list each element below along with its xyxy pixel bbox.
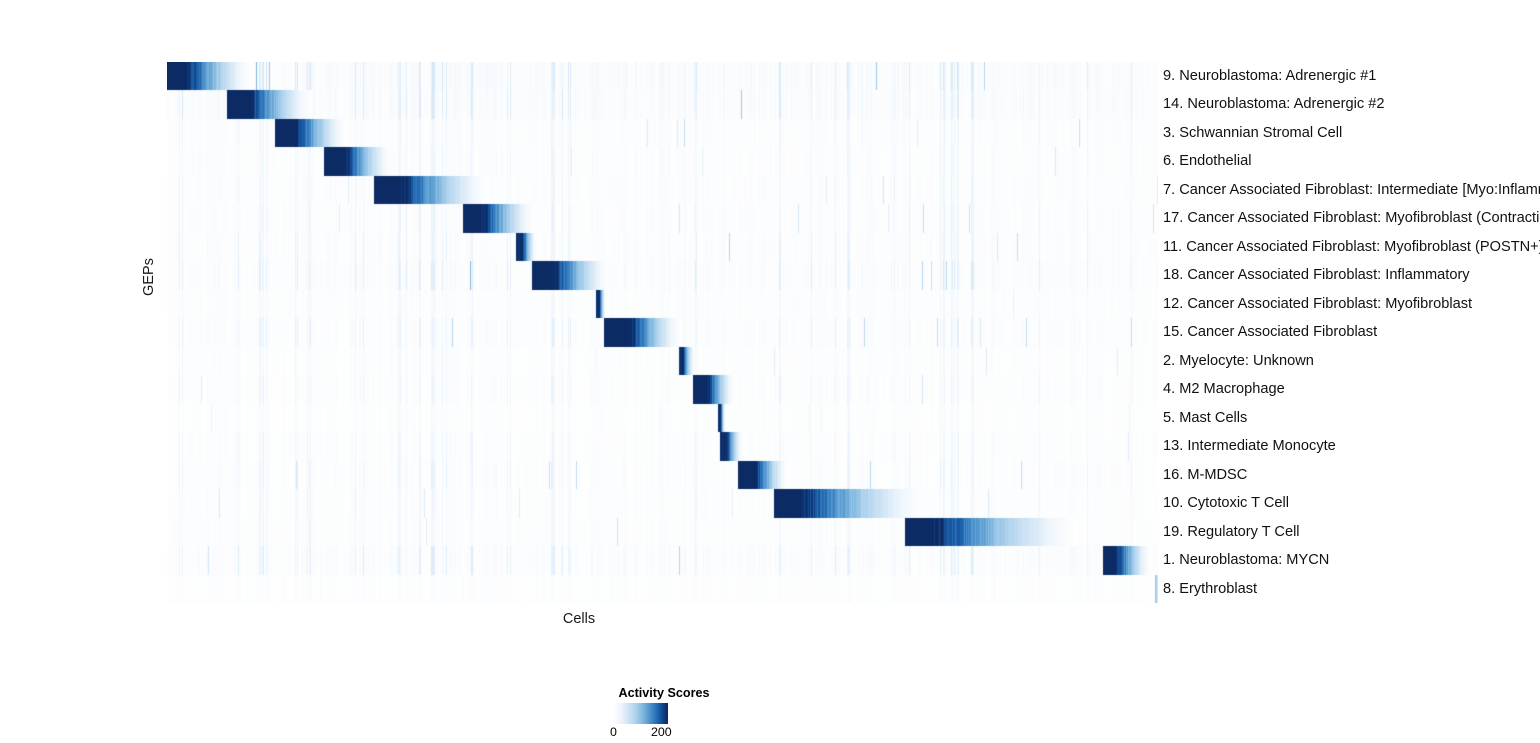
colorbar-tick-label-200: 200 (651, 725, 672, 739)
heatmap-canvas (167, 62, 1158, 603)
heatmap-row-label: 17. Cancer Associated Fibroblast: Myofib… (1163, 204, 1540, 232)
y-axis-title-holder: GEPs (141, 277, 161, 297)
heatmap-row-label: 18. Cancer Associated Fibroblast: Inflam… (1163, 261, 1470, 289)
colorbar-tick-bottom (607, 716, 609, 724)
heatmap-row-label: 4. M2 Macrophage (1163, 375, 1285, 403)
heatmap-row-label: 5. Mast Cells (1163, 404, 1247, 432)
heatmap-row-label: 13. Intermediate Monocyte (1163, 432, 1336, 460)
heatmap-row-label-list: 9. Neuroblastoma: Adrenergic #114. Neuro… (1163, 62, 1540, 603)
heatmap-row-label: 14. Neuroblastoma: Adrenergic #2 (1163, 90, 1384, 118)
colorbar-title: Activity Scores (560, 686, 768, 700)
heatmap-row-label: 7. Cancer Associated Fibroblast: Interme… (1163, 176, 1540, 204)
heatmap-row-label: 3. Schwannian Stromal Cell (1163, 119, 1342, 147)
heatmap-plot-area (167, 62, 1158, 603)
colorbar-gradient-holder (613, 703, 668, 724)
heatmap-row-label: 16. M-MDSC (1163, 461, 1247, 489)
heatmap-row-label: 1. Neuroblastoma: MYCN (1163, 546, 1329, 574)
heatmap-row-label: 10. Cytotoxic T Cell (1163, 489, 1289, 517)
figure-root: GEPs Cells 9. Neuroblastoma: Adrenergic … (0, 0, 1540, 743)
colorbar-legend: Activity Scores 0 200 (560, 686, 880, 741)
x-axis-title-row: Cells (0, 611, 1158, 627)
y-axis-title: GEPs (141, 258, 157, 296)
colorbar-gradient (613, 703, 668, 724)
heatmap-row-label: 9. Neuroblastoma: Adrenergic #1 (1163, 62, 1376, 90)
x-axis-title: Cells (563, 611, 595, 627)
heatmap-row-label: 6. Endothelial (1163, 147, 1251, 175)
heatmap-row-label: 19. Regulatory T Cell (1163, 518, 1300, 546)
colorbar-tick-top (607, 703, 609, 711)
colorbar-tick-label-0: 0 (610, 725, 617, 739)
heatmap-row-label: 2. Myelocyte: Unknown (1163, 347, 1314, 375)
heatmap-row-label: 12. Cancer Associated Fibroblast: Myofib… (1163, 290, 1472, 318)
heatmap-row-label: 8. Erythroblast (1163, 575, 1257, 603)
heatmap-row-label: 11. Cancer Associated Fibroblast: Myofib… (1163, 233, 1540, 261)
heatmap-row-label: 15. Cancer Associated Fibroblast (1163, 318, 1377, 346)
